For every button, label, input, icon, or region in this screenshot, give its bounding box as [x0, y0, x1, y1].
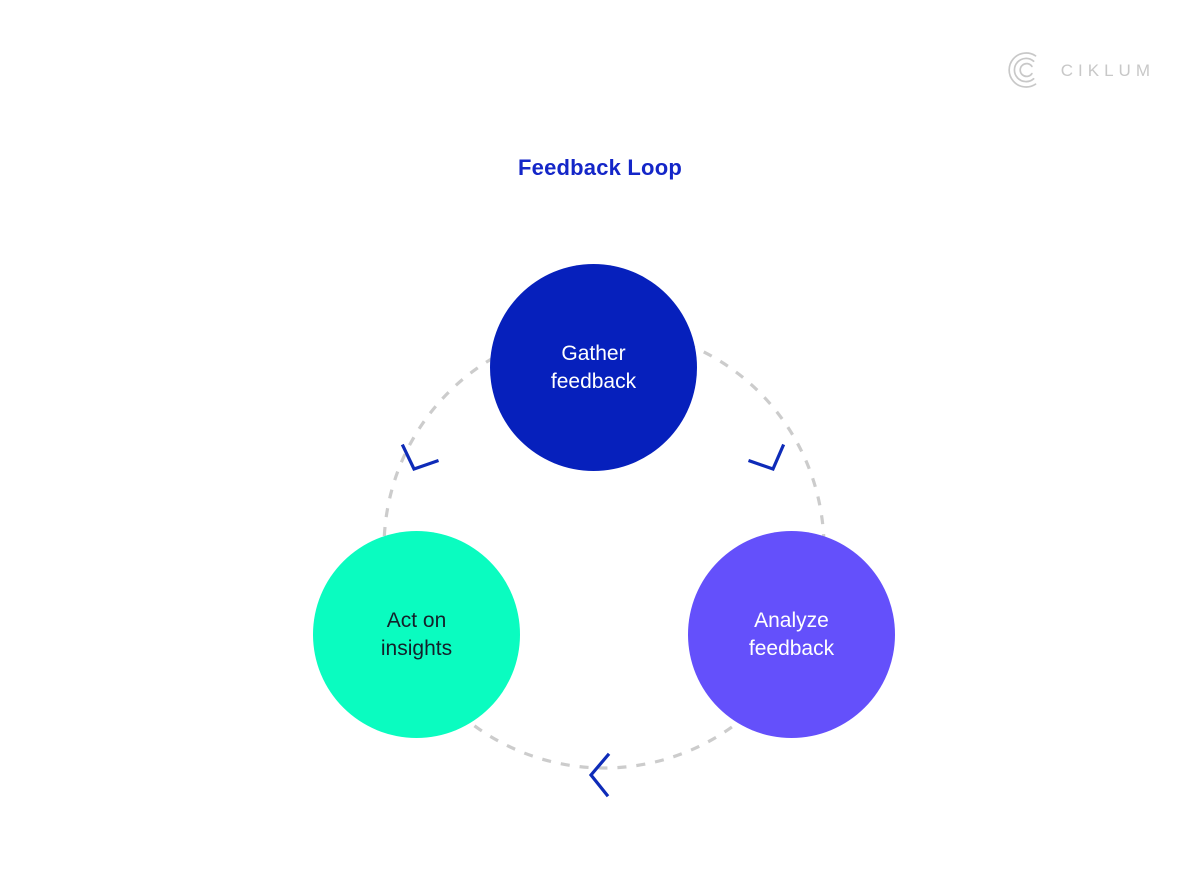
node-act-on-insights-label: Act on insights: [367, 607, 466, 662]
arrow-act-to-analyze-icon: [591, 755, 608, 795]
node-act-on-insights[interactable]: Act on insights: [313, 531, 520, 738]
arrow-gather-to-act-icon: [403, 446, 437, 469]
node-analyze-feedback-label: Analyze feedback: [735, 607, 848, 662]
arrow-analyze-to-gather-icon: [750, 446, 783, 469]
feedback-loop-diagram: Gather feedback Analyze feedback Act on …: [0, 0, 1200, 880]
node-gather-feedback[interactable]: Gather feedback: [490, 264, 697, 471]
node-gather-feedback-label: Gather feedback: [537, 340, 650, 395]
node-analyze-feedback[interactable]: Analyze feedback: [688, 531, 895, 738]
